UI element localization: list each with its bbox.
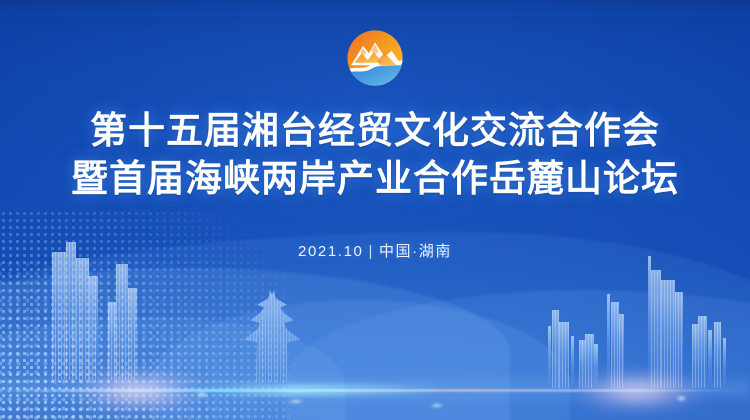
sparkle-d [676,395,687,402]
title-line-1: 第十五届湘台经贸文化交流合作会 [0,106,750,154]
subtitle-date: 2021.10 [298,243,363,260]
title-line-2: 暨首届海峡两岸产业合作岳麓山论坛 [0,154,750,202]
title-block: 第十五届湘台经贸文化交流合作会 暨首届海峡两岸产业合作岳麓山论坛 [0,106,750,202]
subtitle-location: 中国·湖南 [379,243,452,260]
sparkle-b [288,399,304,404]
sparkle-c [430,403,444,408]
logo [345,28,405,88]
conference-banner: 第十五届湘台经贸文化交流合作会 暨首届海峡两岸产业合作岳麓山论坛 2021.10… [0,0,750,420]
warm-glow-right [570,374,705,408]
landmark-tower-a [651,270,661,388]
subtitle-separator: | [368,243,374,260]
mountain-water-circle-icon [345,28,405,88]
subtitle-block: 2021.10|中国·湖南 [0,240,750,261]
